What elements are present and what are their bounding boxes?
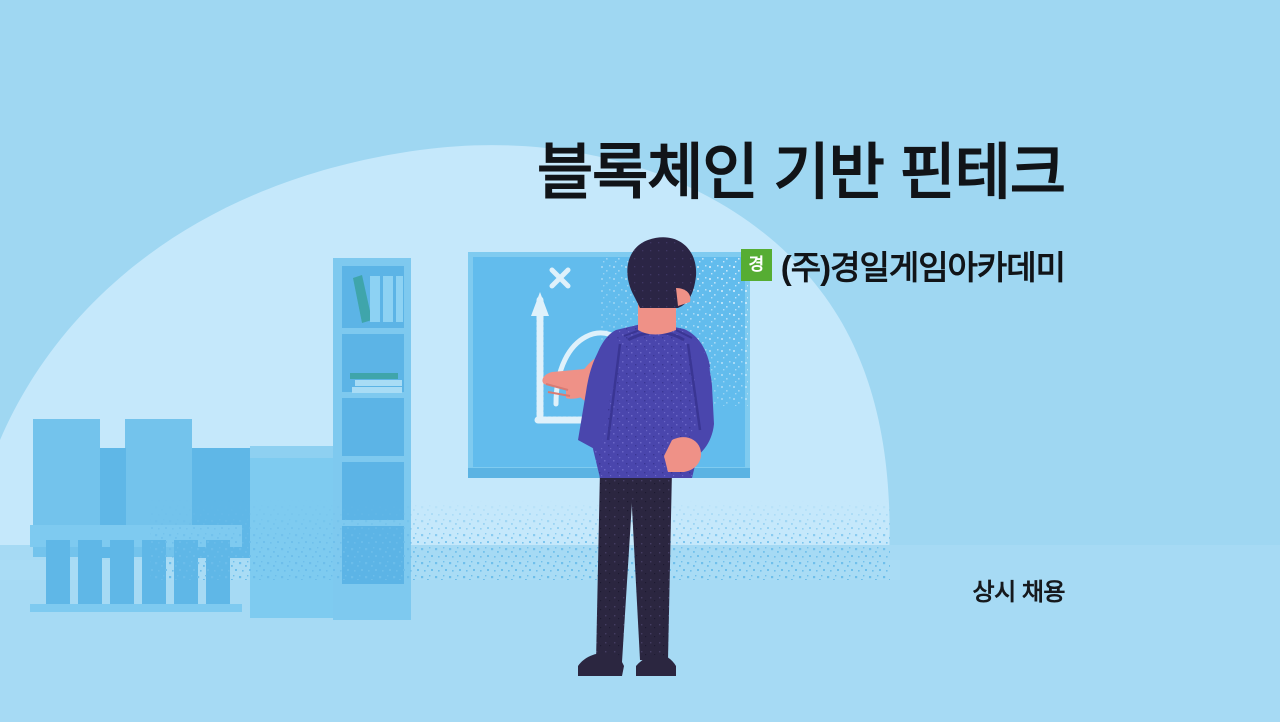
job-posting-banner: 블록체인 기반 핀테크 경 (주)경일게임아카데미 상시 채용 <box>0 0 1280 722</box>
floor-speckle <box>150 500 890 580</box>
shelf-3 <box>342 398 404 456</box>
office-illustration <box>0 0 1280 722</box>
books-stacked <box>350 373 402 393</box>
